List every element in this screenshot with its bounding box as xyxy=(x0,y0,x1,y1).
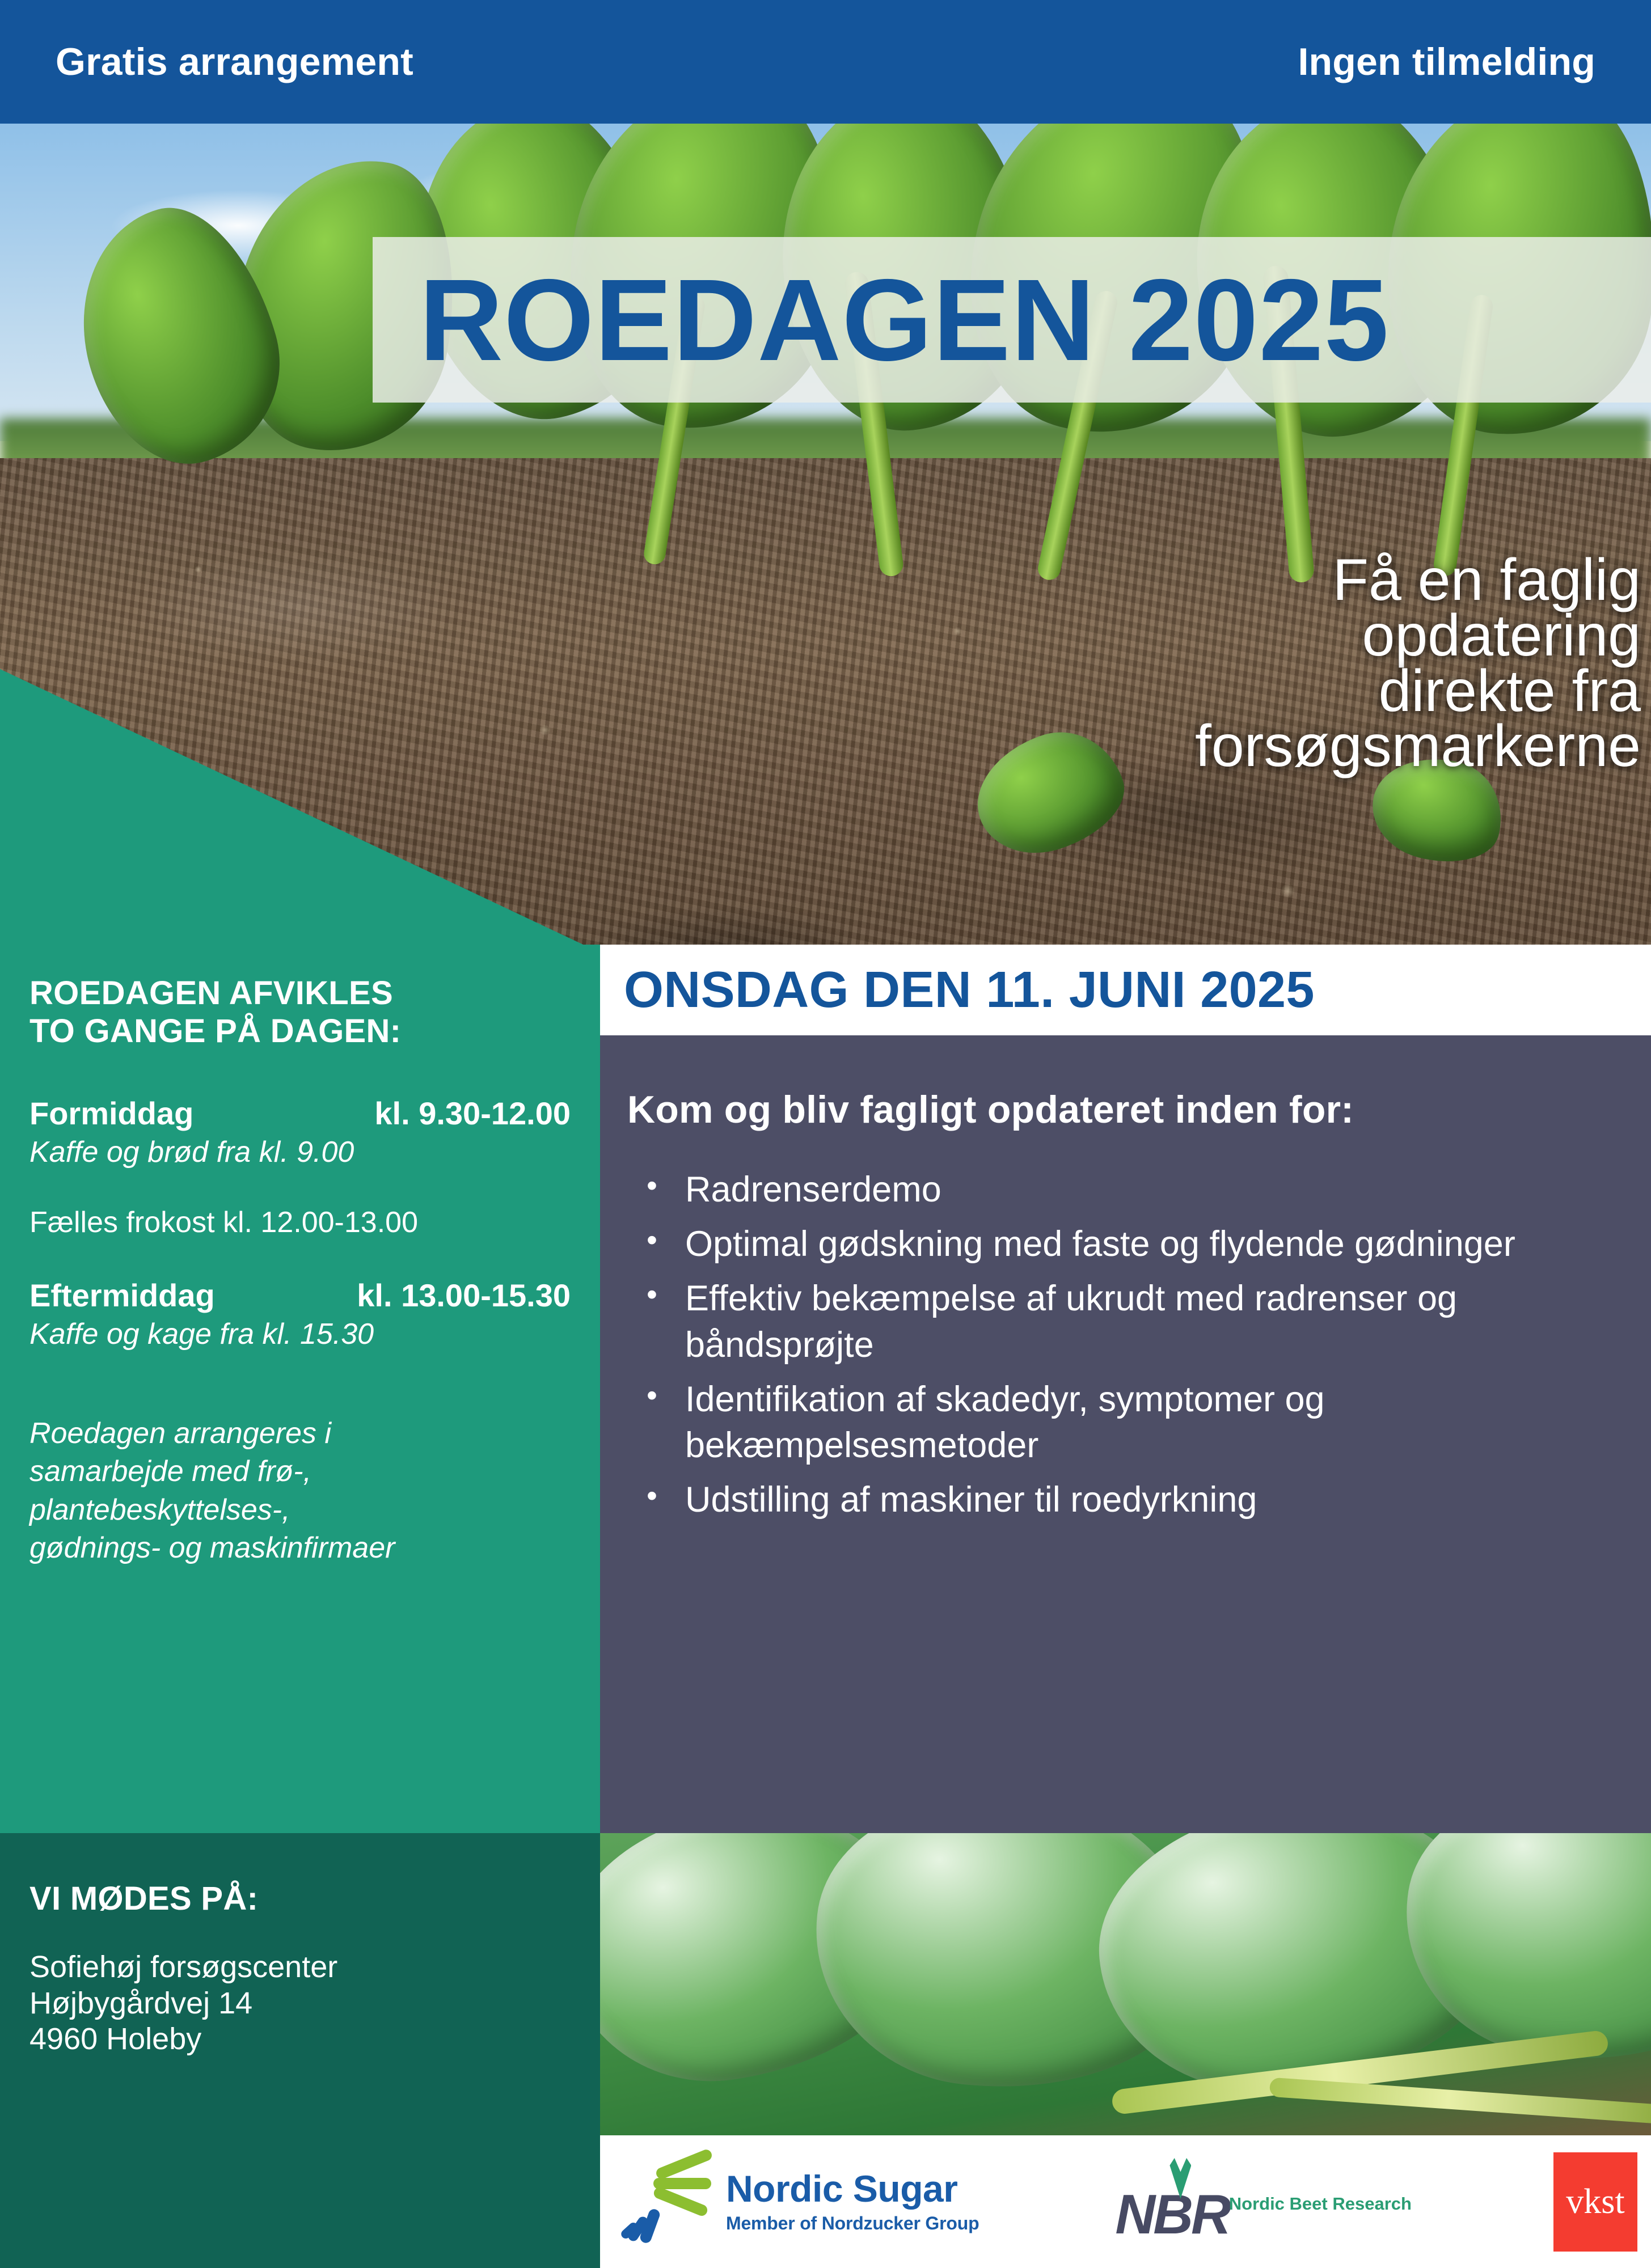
tagline-line-3: direkte fra xyxy=(675,664,1641,720)
venue-heading: VI MØDES PÅ: xyxy=(29,1880,571,1918)
beet-foliage-photo xyxy=(600,1833,1651,2135)
topic-item: Effektiv bekæmpelse af ukrudt med radren… xyxy=(627,1276,1619,1369)
venue-address-line-2: Højbygårdvej 14 xyxy=(29,1986,571,2022)
nordic-sugar-wordmark: Nordic Sugar Member of Nordzucker Group xyxy=(726,2170,979,2234)
topic-item: Udstilling af maskiner til roedyrkning xyxy=(627,1477,1619,1524)
schedule-panel: ROEDAGEN AFVIKLES TO GANGE PÅ DAGEN: For… xyxy=(0,945,600,1833)
venue-panel: VI MØDES PÅ: Sofiehøj forsøgscenter Højb… xyxy=(0,1833,600,2268)
session-afternoon-row: Eftermiddag kl. 13.00-15.30 xyxy=(29,1277,571,1314)
logo-nbr: NBR Nordic Beet Research xyxy=(1115,2161,1412,2242)
tagline-line-4: forsøgsmarkerne xyxy=(675,719,1641,775)
tagline-line-1: Få en faglig xyxy=(675,553,1641,608)
session-morning: Formiddag kl. 9.30-12.00 Kaffe og brød f… xyxy=(29,1095,571,1169)
topics-panel: Kom og bliv fagligt opdateret inden for:… xyxy=(600,1035,1651,1833)
partner-note-line-1: Roedagen arrangeres i xyxy=(29,1415,571,1453)
lunch-label: Fælles frokost kl. 12.00-13.00 xyxy=(29,1205,571,1239)
session-afternoon-name: Eftermiddag xyxy=(29,1277,215,1314)
partner-note-line-3: plantebeskyttelses-, xyxy=(29,1491,571,1530)
partner-note-line-4: gødnings- og maskinfirmaer xyxy=(29,1529,571,1568)
session-afternoon-note: Kaffe og kage fra kl. 15.30 xyxy=(29,1317,571,1351)
topic-item: Identifikation af skadedyr, symptomer og… xyxy=(627,1377,1619,1470)
partner-note-line-2: samarbejde med frø-, xyxy=(29,1453,571,1491)
event-date-strip: ONSDAG DEN 11. JUNI 2025 xyxy=(600,945,1651,1035)
session-morning-row: Formiddag kl. 9.30-12.00 xyxy=(29,1095,571,1132)
session-afternoon: Eftermiddag kl. 13.00-15.30 Kaffe og kag… xyxy=(29,1277,571,1351)
poster-title: ROEDAGEN 2025 xyxy=(419,262,1390,378)
beet-stalk xyxy=(1269,2077,1651,2125)
session-morning-name: Formiddag xyxy=(29,1095,193,1132)
schedule-heading: ROEDAGEN AFVIKLES TO GANGE PÅ DAGEN: xyxy=(29,974,571,1051)
poster-title-band: ROEDAGEN 2025 xyxy=(373,237,1651,403)
partner-note: Roedagen arrangeres i samarbejde med frø… xyxy=(29,1415,571,1568)
topic-item: Radrenserdemo xyxy=(627,1167,1619,1213)
event-date: ONSDAG DEN 11. JUNI 2025 xyxy=(624,961,1315,1019)
hero-tagline: Få en faglig opdatering direkte fra fors… xyxy=(675,553,1651,775)
sponsor-logo-bar: Nordic Sugar Member of Nordzucker Group … xyxy=(600,2135,1651,2268)
nordic-sugar-tagline: Member of Nordzucker Group xyxy=(726,2213,979,2234)
schedule-heading-line-2: TO GANGE PÅ DAGEN: xyxy=(29,1012,571,1050)
session-afternoon-time: kl. 13.00-15.30 xyxy=(357,1277,571,1314)
topics-list: Radrenserdemo Optimal gødskning med fast… xyxy=(627,1167,1619,1524)
vkst-name: vkst xyxy=(1566,2184,1624,2219)
venue-address-line-3: 4960 Holeby xyxy=(29,2021,571,2058)
session-morning-time: kl. 9.30-12.00 xyxy=(374,1095,571,1132)
top-banner: Gratis arrangement Ingen tilmelding xyxy=(0,0,1651,124)
no-registration-label: Ingen tilmelding xyxy=(1298,40,1595,84)
logo-nordic-sugar: Nordic Sugar Member of Nordzucker Group xyxy=(628,2156,979,2247)
poster-root: Gratis arrangement Ingen tilmelding xyxy=(0,0,1651,2268)
free-event-label: Gratis arrangement xyxy=(56,40,413,84)
nbr-tagline: Nordic Beet Research xyxy=(1229,2194,1412,2214)
session-morning-note: Kaffe og brød fra kl. 9.00 xyxy=(29,1135,571,1169)
topics-heading: Kom og bliv fagligt opdateret inden for: xyxy=(627,1088,1619,1132)
topic-item: Optimal gødskning med faste og flydende … xyxy=(627,1221,1619,1268)
logo-vkst: vkst xyxy=(1553,2152,1637,2252)
venue-address-line-1: Sofiehøj forsøgscenter xyxy=(29,1949,571,1986)
nordic-sugar-mark-icon xyxy=(628,2156,713,2247)
venue-address: Sofiehøj forsøgscenter Højbygårdvej 14 4… xyxy=(29,1949,571,2058)
nordic-sugar-name: Nordic Sugar xyxy=(726,2170,979,2207)
schedule-heading-line-1: ROEDAGEN AFVIKLES xyxy=(29,974,571,1012)
tagline-line-2: opdatering xyxy=(675,608,1641,664)
nbr-name: NBR xyxy=(1115,2186,1228,2242)
